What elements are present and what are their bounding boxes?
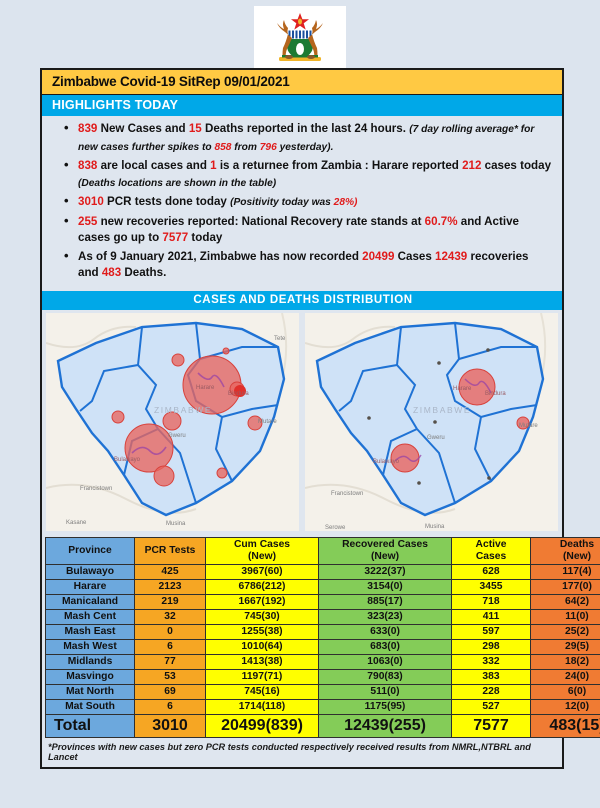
cell-deaths: 24(0) bbox=[531, 669, 600, 684]
map-dot bbox=[437, 361, 441, 365]
highlight-bullet: 255 new recoveries reported: National Re… bbox=[78, 214, 552, 247]
highlight-text-fragment: yesterday). bbox=[277, 142, 334, 153]
report-frame: Zimbabwe Covid-19 SitRep 09/01/2021 HIGH… bbox=[40, 68, 564, 769]
cell-recovered-cases: 323(23) bbox=[319, 609, 452, 624]
distribution-header: CASES AND DEATHS DISTRIBUTION bbox=[42, 291, 562, 310]
cell-deaths: 12(0) bbox=[531, 699, 600, 714]
matsouth-bubble bbox=[154, 466, 174, 486]
highlight-text-fragment: 20499 bbox=[362, 250, 394, 263]
cell-recovered-cases: 511(0) bbox=[319, 684, 452, 699]
highlight-text-fragment: 796 bbox=[260, 142, 277, 153]
map-place-label: Tete bbox=[274, 336, 285, 342]
cell-cum-cases: 1010(64) bbox=[206, 639, 319, 654]
total-cell-recovered-cases: 12439(255) bbox=[319, 714, 452, 737]
table-head: Province PCR Tests Cum Cases(New) Recove… bbox=[46, 537, 600, 564]
cell-deaths: 11(0) bbox=[531, 609, 600, 624]
table-row[interactable]: Mash Cent32745(30)323(23)41111(0) bbox=[46, 609, 600, 624]
zimbabwe-coat-of-arms-icon bbox=[254, 6, 346, 70]
bulawayo-deaths-bubble bbox=[391, 444, 419, 472]
cell-active-cases: 527 bbox=[452, 699, 531, 714]
cell-recovered-cases: 1175(95) bbox=[319, 699, 452, 714]
highlight-text-fragment: from bbox=[231, 142, 259, 153]
sitrep-page: Zimbabwe Covid-19 SitRep 09/01/2021 HIGH… bbox=[0, 0, 600, 808]
masvingo-bubble bbox=[217, 468, 227, 478]
cell-recovered-cases: 885(17) bbox=[319, 594, 452, 609]
map-place-label: Harare bbox=[453, 386, 471, 392]
map-place-label: Gweru bbox=[427, 435, 445, 441]
highlight-text-fragment: 7577 bbox=[162, 231, 188, 244]
cell-cum-cases: 745(16) bbox=[206, 684, 319, 699]
table-row[interactable]: Mat South61714(118)1175(95)52712(0) bbox=[46, 699, 600, 714]
highlight-text-fragment: 3010 bbox=[78, 195, 104, 208]
table-row[interactable]: Midlands771413(38)1063(0)33218(2) bbox=[46, 654, 600, 669]
matnorth-bubble bbox=[112, 411, 124, 423]
cell-pcr-tests: 69 bbox=[135, 684, 206, 699]
cell-province: Mash East bbox=[46, 624, 135, 639]
cell-active-cases: 3455 bbox=[452, 579, 531, 594]
column-header-cum-cases: Cum Cases(New) bbox=[206, 537, 319, 564]
cell-active-cases: 718 bbox=[452, 594, 531, 609]
cell-cum-cases: 1197(71) bbox=[206, 669, 319, 684]
cell-province: Mash West bbox=[46, 639, 135, 654]
mashcentral-small-bubble bbox=[223, 348, 229, 354]
highlights-section: 839 New Cases and 15 Deaths reported in … bbox=[42, 116, 562, 291]
cell-pcr-tests: 0 bbox=[135, 624, 206, 639]
highlight-text-fragment: 28%) bbox=[334, 197, 358, 208]
table-row[interactable]: Manicaland2191667(192)885(17)71864(2) bbox=[46, 594, 600, 609]
cell-active-cases: 411 bbox=[452, 609, 531, 624]
map-place-label: Bindura bbox=[485, 391, 506, 397]
table-row[interactable]: Harare21236786(212)3154(0)3455177(0) bbox=[46, 579, 600, 594]
map-dot bbox=[417, 481, 421, 485]
column-header-province: Province bbox=[46, 537, 135, 564]
cell-province: Bulawayo bbox=[46, 564, 135, 579]
table-row[interactable]: Mash East01255(38)633(0)59725(2) bbox=[46, 624, 600, 639]
deaths-map-svg bbox=[305, 313, 558, 531]
map-place-label: Serowe bbox=[325, 525, 345, 531]
highlights-header: HIGHLIGHTS TODAY bbox=[42, 95, 562, 116]
map-place-label: Musina bbox=[425, 524, 444, 530]
highlight-bullet: 839 New Cases and 15 Deaths reported in … bbox=[78, 121, 552, 156]
cell-cum-cases: 745(30) bbox=[206, 609, 319, 624]
cell-active-cases: 332 bbox=[452, 654, 531, 669]
cell-cum-cases: 1714(118) bbox=[206, 699, 319, 714]
cell-recovered-cases: 633(0) bbox=[319, 624, 452, 639]
cell-cum-cases: 1413(38) bbox=[206, 654, 319, 669]
table-row[interactable]: Mash West61010(64)683(0)29829(5) bbox=[46, 639, 600, 654]
highlight-text-fragment: are local cases and bbox=[97, 159, 210, 172]
map-place-label: Bulawayo bbox=[373, 459, 399, 465]
total-cell-deaths: 483(15) bbox=[531, 714, 600, 737]
cell-province: Mash Cent bbox=[46, 609, 135, 624]
highlight-text-fragment: 858 bbox=[214, 142, 231, 153]
cell-deaths: 29(5) bbox=[531, 639, 600, 654]
map-place-label: Bulawayo bbox=[114, 457, 140, 463]
cell-active-cases: 597 bbox=[452, 624, 531, 639]
cell-pcr-tests: 32 bbox=[135, 609, 206, 624]
column-header-active-cases: ActiveCases bbox=[452, 537, 531, 564]
cell-cum-cases: 3967(60) bbox=[206, 564, 319, 579]
cell-active-cases: 628 bbox=[452, 564, 531, 579]
highlight-text-fragment: PCR tests done today bbox=[104, 195, 230, 208]
coat-of-arms-svg bbox=[265, 10, 335, 66]
table-header-row: Province PCR Tests Cum Cases(New) Recove… bbox=[46, 537, 600, 564]
cell-recovered-cases: 790(83) bbox=[319, 669, 452, 684]
highlight-bullet: 838 are local cases and 1 is a returnee … bbox=[78, 158, 552, 192]
highlight-text-fragment: (Positivity today was bbox=[230, 197, 334, 208]
highlight-text-fragment: 483 bbox=[102, 266, 121, 279]
cell-province: Midlands bbox=[46, 654, 135, 669]
highlight-text-fragment: 12439 bbox=[435, 250, 467, 263]
map-place-label: Musina bbox=[166, 521, 185, 527]
map-place-label: Gweru bbox=[168, 433, 186, 439]
map-place-label: Kasane bbox=[66, 520, 86, 526]
column-header-pcr-tests: PCR Tests bbox=[135, 537, 206, 564]
highlight-bullet: As of 9 January 2021, Zimbabwe has now r… bbox=[78, 249, 552, 282]
table-total-row: Total301020499(839)12439(255)7577483(15) bbox=[46, 714, 600, 737]
highlight-text-fragment: New Cases and bbox=[97, 122, 189, 135]
map-place-label: Francistown bbox=[331, 491, 363, 497]
highlights-list: 839 New Cases and 15 Deaths reported in … bbox=[48, 121, 552, 282]
cell-pcr-tests: 6 bbox=[135, 699, 206, 714]
highlight-text-fragment: (Deaths locations are shown in the table… bbox=[78, 178, 276, 189]
column-header-recovered-cases: Recovered Cases(New) bbox=[319, 537, 452, 564]
cell-deaths: 117(4) bbox=[531, 564, 600, 579]
cell-deaths: 6(0) bbox=[531, 684, 600, 699]
cell-deaths: 18(2) bbox=[531, 654, 600, 669]
map-place-label: Mutare bbox=[258, 419, 277, 425]
cell-cum-cases: 1255(38) bbox=[206, 624, 319, 639]
highlight-text-fragment: Cases bbox=[394, 250, 435, 263]
cell-deaths: 177(0) bbox=[531, 579, 600, 594]
map-dot bbox=[487, 476, 491, 480]
table-footnote: *Provinces with new cases but zero PCR t… bbox=[42, 739, 562, 767]
cell-pcr-tests: 425 bbox=[135, 564, 206, 579]
cell-pcr-tests: 2123 bbox=[135, 579, 206, 594]
cell-active-cases: 383 bbox=[452, 669, 531, 684]
highlight-text-fragment: Deaths. bbox=[121, 266, 166, 279]
cell-pcr-tests: 77 bbox=[135, 654, 206, 669]
highlight-text-fragment: 838 bbox=[78, 159, 97, 172]
cell-province: Masvingo bbox=[46, 669, 135, 684]
highlight-bullet: 3010 PCR tests done today (Positivity to… bbox=[78, 194, 552, 212]
highlight-text-fragment: today bbox=[188, 231, 222, 244]
cell-recovered-cases: 1063(0) bbox=[319, 654, 452, 669]
cell-recovered-cases: 3222(37) bbox=[319, 564, 452, 579]
highlight-text-fragment: is a returnee from Zambia : Harare repor… bbox=[217, 159, 462, 172]
table-body: Bulawayo4253967(60)3222(37)628117(4)Hara… bbox=[46, 564, 600, 737]
total-cell-province: Total bbox=[46, 714, 135, 737]
cell-pcr-tests: 53 bbox=[135, 669, 206, 684]
total-cell-active-cases: 7577 bbox=[452, 714, 531, 737]
province-statistics-table: Province PCR Tests Cum Cases(New) Recove… bbox=[45, 537, 600, 738]
cell-province: Mat North bbox=[46, 684, 135, 699]
cell-recovered-cases: 3154(0) bbox=[319, 579, 452, 594]
cell-pcr-tests: 6 bbox=[135, 639, 206, 654]
map-dot bbox=[486, 348, 490, 352]
column-header-deaths: Deaths(New) bbox=[531, 537, 600, 564]
cases-distribution-map[interactable]: ZIMBABWEHarareBinduraMutareGweruBulawayo… bbox=[46, 313, 299, 531]
highlight-text-fragment: Deaths reported in the last 24 hours. bbox=[202, 122, 409, 135]
table-section: Province PCR Tests Cum Cases(New) Recove… bbox=[42, 535, 562, 739]
page-title: Zimbabwe Covid-19 SitRep 09/01/2021 bbox=[42, 70, 562, 95]
map-place-label: Mutare bbox=[519, 423, 538, 429]
table-row[interactable]: Masvingo531197(71)790(83)38324(0) bbox=[46, 669, 600, 684]
map-place-label: Francistown bbox=[80, 486, 112, 492]
highlight-text-fragment: 839 bbox=[78, 122, 97, 135]
map-place-label: ZIMBABWE bbox=[154, 405, 212, 415]
maps-section: ZIMBABWEHarareBinduraMutareGweruBulawayo… bbox=[42, 310, 562, 535]
cell-recovered-cases: 683(0) bbox=[319, 639, 452, 654]
cell-active-cases: 228 bbox=[452, 684, 531, 699]
deaths-distribution-map[interactable]: ZIMBABWEHarareBinduraMutareGweruBulawayo… bbox=[305, 313, 558, 531]
cell-province: Mat South bbox=[46, 699, 135, 714]
map-dot bbox=[433, 420, 437, 424]
highlight-text-fragment: 60.7% bbox=[425, 215, 458, 228]
total-cell-pcr-tests: 3010 bbox=[135, 714, 206, 737]
highlight-text-fragment: 15 bbox=[189, 122, 202, 135]
map-place-label: ZIMBABWE bbox=[413, 405, 471, 415]
map-place-label: Bindura bbox=[228, 391, 249, 397]
cell-cum-cases: 1667(192) bbox=[206, 594, 319, 609]
highlight-text-fragment: 212 bbox=[462, 159, 481, 172]
highlight-text-fragment: cases today bbox=[481, 159, 551, 172]
highlight-text-fragment: 255 bbox=[78, 215, 97, 228]
cell-cum-cases: 6786(212) bbox=[206, 579, 319, 594]
highlight-text-fragment: As of 9 January 2021, Zimbabwe has now r… bbox=[78, 250, 362, 263]
cell-active-cases: 298 bbox=[452, 639, 531, 654]
cell-deaths: 64(2) bbox=[531, 594, 600, 609]
cell-province: Harare bbox=[46, 579, 135, 594]
total-cell-cum-cases: 20499(839) bbox=[206, 714, 319, 737]
cell-deaths: 25(2) bbox=[531, 624, 600, 639]
map-place-label: Harare bbox=[196, 385, 214, 391]
table-row[interactable]: Mat North69745(16)511(0)2286(0) bbox=[46, 684, 600, 699]
table-row[interactable]: Bulawayo4253967(60)3222(37)628117(4) bbox=[46, 564, 600, 579]
cell-pcr-tests: 219 bbox=[135, 594, 206, 609]
mashwest-bubble bbox=[172, 354, 184, 366]
cell-province: Manicaland bbox=[46, 594, 135, 609]
map-dot bbox=[367, 416, 371, 420]
highlight-text-fragment: new recoveries reported: National Recove… bbox=[97, 215, 424, 228]
